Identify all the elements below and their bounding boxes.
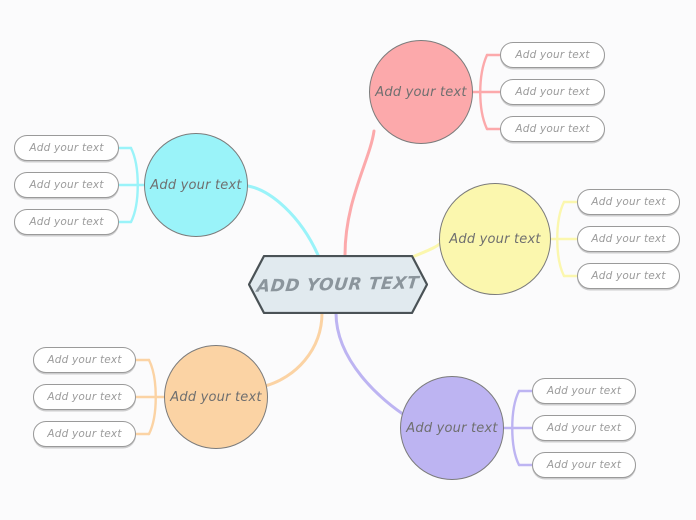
bracket-purple (504, 391, 532, 465)
leaf-label: Add your text (47, 428, 121, 440)
branch-label-yellow: Add your text (449, 232, 540, 247)
leaf-purple-1[interactable]: Add your text (532, 378, 636, 404)
leaf-cyan-3[interactable]: Add your text (14, 209, 119, 235)
central-node-label: Add your text (256, 273, 420, 296)
branch-label-cyan: Add your text (150, 178, 241, 193)
trunk-pink (345, 131, 374, 255)
branch-label-pink: Add your text (375, 85, 466, 100)
trunk-purple (336, 313, 409, 418)
leaf-pink-3[interactable]: Add your text (500, 116, 605, 142)
trunk-orange (265, 313, 322, 386)
leaf-pink-1[interactable]: Add your text (500, 42, 605, 68)
central-node[interactable]: Add your text (248, 255, 428, 314)
branch-circle-orange[interactable]: Add your text (164, 345, 268, 449)
leaf-pink-2[interactable]: Add your text (500, 79, 605, 105)
branch-circle-cyan[interactable]: Add your text (144, 133, 248, 237)
bracket-pink (473, 55, 500, 129)
bracket-yellow (551, 202, 577, 276)
leaf-label: Add your text (29, 216, 103, 228)
bracket-cyan (119, 148, 144, 222)
mindmap-canvas: Add your textAdd your textAdd your textA… (0, 0, 696, 520)
leaf-label: Add your text (515, 49, 589, 61)
leaf-purple-2[interactable]: Add your text (532, 415, 636, 441)
leaf-label: Add your text (515, 86, 589, 98)
branch-circle-pink[interactable]: Add your text (369, 40, 473, 144)
branch-circle-yellow[interactable]: Add your text (439, 183, 551, 295)
leaf-cyan-1[interactable]: Add your text (14, 135, 119, 161)
leaf-label: Add your text (29, 142, 103, 154)
branch-label-purple: Add your text (406, 421, 497, 436)
leaf-label: Add your text (591, 233, 665, 245)
trunk-cyan (248, 186, 318, 255)
leaf-label: Add your text (515, 123, 589, 135)
leaf-label: Add your text (591, 270, 665, 282)
leaf-yellow-2[interactable]: Add your text (577, 226, 680, 252)
leaf-label: Add your text (547, 385, 621, 397)
leaf-yellow-3[interactable]: Add your text (577, 263, 680, 289)
branch-label-orange: Add your text (170, 390, 261, 405)
leaf-label: Add your text (47, 391, 121, 403)
leaf-orange-1[interactable]: Add your text (33, 347, 136, 373)
leaf-yellow-1[interactable]: Add your text (577, 189, 680, 215)
leaf-label: Add your text (29, 179, 103, 191)
leaf-orange-3[interactable]: Add your text (33, 421, 136, 447)
leaf-label: Add your text (547, 422, 621, 434)
leaf-orange-2[interactable]: Add your text (33, 384, 136, 410)
leaf-label: Add your text (547, 459, 621, 471)
leaf-purple-3[interactable]: Add your text (532, 452, 636, 478)
leaf-label: Add your text (591, 196, 665, 208)
leaf-label: Add your text (47, 354, 121, 366)
branch-circle-purple[interactable]: Add your text (400, 376, 504, 480)
bracket-orange (136, 360, 164, 434)
leaf-cyan-2[interactable]: Add your text (14, 172, 119, 198)
